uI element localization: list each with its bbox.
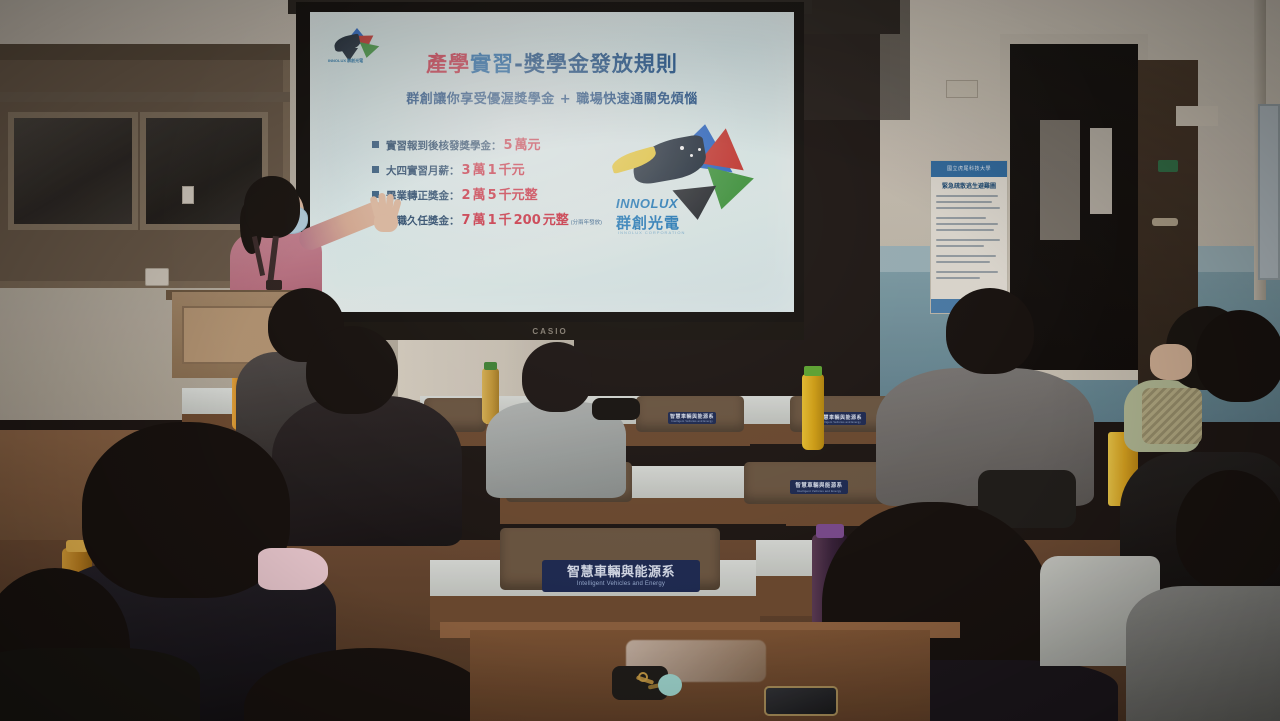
- door-handle[interactable]: [1152, 218, 1178, 226]
- bullet-amount-2: 1: [488, 163, 497, 178]
- chair-label-cn: 智慧車輛與能源系: [567, 565, 675, 580]
- audience-bag: [592, 398, 640, 420]
- chair-label-cn: 智慧車輛與能源系: [670, 413, 714, 420]
- bullet-unit: 萬元: [515, 134, 541, 153]
- presenter-id-badge: [266, 280, 282, 290]
- notice-text-line: [936, 261, 990, 263]
- notice-text-line: [936, 277, 980, 279]
- logo-dot: [690, 154, 693, 157]
- notice-text-line: [936, 271, 998, 273]
- slide-title-part-3: -獎學金發放規則: [514, 52, 678, 76]
- slide-title-part-2: 實習: [470, 52, 514, 76]
- bullet-amount: 5: [504, 138, 513, 153]
- innolux-logo-en: INNOLUX: [616, 196, 678, 211]
- woven-basket: [1142, 388, 1202, 444]
- bullet-amount-2: 1: [488, 213, 497, 228]
- window-rail: [0, 92, 290, 102]
- bullet-marker-icon: [372, 141, 379, 148]
- notice-text-line: [936, 195, 998, 197]
- logo-dot: [680, 146, 684, 150]
- tea-bottle-yellow[interactable]: [802, 374, 824, 450]
- window-glass-left: [8, 112, 138, 230]
- bullet-amount-2: 5: [488, 188, 497, 203]
- key-ring: [638, 672, 648, 682]
- audience-head-far-right: [1176, 470, 1280, 590]
- bullet-unit: 萬: [473, 184, 486, 203]
- chair-label-en: Intelligent Vehicles and Energy: [819, 421, 861, 424]
- audience-torso-left-edge: [0, 648, 200, 721]
- slide-innolux-logo: INNOLUX 群創光電 INNOLUX CORPORATION: [610, 124, 770, 249]
- audience-torso: [272, 396, 462, 546]
- wall-sign-small-right: [1176, 106, 1218, 126]
- chair-label-en: Intelligent Vehicles and Energy: [577, 580, 665, 588]
- wall-sign-small: [946, 80, 978, 98]
- smartphone[interactable]: [764, 686, 838, 716]
- bottle-cap: [804, 366, 822, 376]
- chair-department-label-large: 智慧車輛與能源系 Intelligent Vehicles and Energy: [542, 560, 700, 592]
- logo-dot: [698, 148, 701, 151]
- wall-panel-far-right: [1258, 104, 1280, 280]
- chair-label-en: Intelligent Vehicles and Energy: [671, 420, 713, 423]
- presenter: [228, 176, 398, 306]
- notice-text-line: [936, 207, 1000, 209]
- bullet-unit-2: 千元: [499, 159, 525, 178]
- bullet-note: (分兩年發放): [571, 218, 602, 226]
- bullet-marker-icon: [372, 166, 379, 173]
- bullet-amount: 7: [462, 213, 471, 228]
- audience-head: [522, 342, 592, 412]
- chair-label-cn: 智慧車輛與能源系: [795, 481, 842, 489]
- audience-face: [1150, 344, 1192, 380]
- audience-torso-far-right: [1126, 586, 1280, 721]
- bullet-amount: 2: [462, 188, 471, 203]
- classroom-photo: 國立虎尾科技大學 緊急疏散逃生避難圖 INNOLUX 群創光電 產學實習-獎學金…: [0, 0, 1280, 721]
- slide-title-part-1: 產學: [426, 52, 470, 76]
- chair-label-en: Intelligent Vehicles and Energy: [797, 489, 841, 493]
- exit-sign: [1158, 160, 1178, 172]
- audience-head: [946, 288, 1034, 374]
- wall-outlet: [145, 268, 169, 286]
- slide-title: 產學實習-獎學金發放規則: [310, 48, 794, 78]
- notice-text-line: [936, 217, 986, 219]
- bottle-cap: [484, 362, 497, 370]
- keychain-tag: [658, 674, 682, 696]
- notice-text-line: [936, 245, 984, 247]
- chair-department-label: 智慧車輛與能源系 Intelligent Vehicles and Energy: [790, 480, 848, 494]
- notice-poster-header: 國立虎尾科技大學: [931, 161, 1007, 177]
- audience-face-mask-pink: [258, 548, 328, 590]
- bottle-cap-purple: [816, 524, 844, 538]
- bullet-label: 實習報到後核發獎學金：: [386, 138, 502, 153]
- bullet-unit-2: 千元整: [499, 184, 538, 203]
- bullet-amount-3: 200: [514, 213, 541, 228]
- slide-subtitle: 群創讓你享受優渥獎學金 + 職場快速通關免煩惱: [310, 88, 794, 107]
- light-switch[interactable]: [182, 186, 194, 204]
- notice-poster-title: 緊急疏散逃生避難圖: [931, 181, 1007, 190]
- presenter-hand: [370, 196, 400, 230]
- window-header: [0, 44, 290, 60]
- keys[interactable]: [636, 672, 688, 698]
- bullet-unit: 萬: [473, 209, 486, 228]
- innolux-logo-tagline: INNOLUX CORPORATION: [618, 230, 685, 235]
- projector-brand-label: CASIO: [532, 327, 567, 336]
- bullet-unit: 萬: [473, 159, 486, 178]
- bullet-amount: 3: [462, 163, 471, 178]
- chair-department-label: 智慧車輛與能源系 Intelligent Vehicles and Energy: [668, 412, 716, 424]
- notice-text-line: [936, 201, 992, 203]
- notice-poster-header-text: 國立虎尾科技大學: [931, 161, 1007, 177]
- notice-text-line: [936, 239, 1000, 241]
- notice-text-line: [936, 223, 998, 225]
- bullet-unit-2: 千: [499, 209, 512, 228]
- bullet-unit-3: 元整: [543, 209, 569, 228]
- audience-head: [1196, 310, 1280, 402]
- notice-text-line: [936, 255, 996, 257]
- audience-head: [306, 326, 398, 414]
- notice-text-line: [936, 229, 994, 231]
- chair-label-cn: 智慧車輛與能源系: [818, 414, 862, 421]
- presenter-hair: [244, 176, 300, 238]
